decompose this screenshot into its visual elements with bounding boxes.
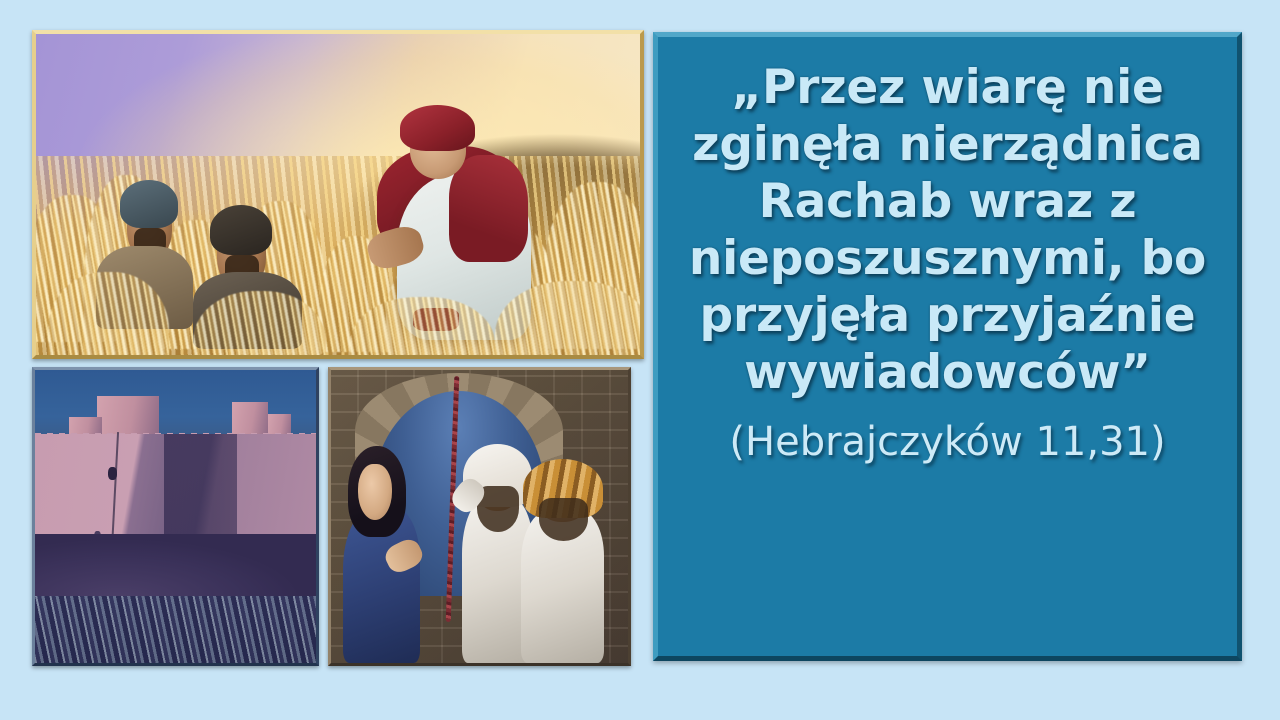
verse-line-1: „Przez wiarę nie bbox=[658, 59, 1237, 116]
rahab-red-shawl-drape bbox=[449, 155, 527, 261]
foreground-brush bbox=[35, 596, 316, 663]
spy-figure-right bbox=[521, 467, 604, 663]
window-scene-artwork bbox=[331, 370, 628, 663]
rahab-at-window bbox=[343, 446, 420, 663]
verse-line-6: wywiadowców” bbox=[658, 344, 1237, 401]
verse-line-3: Rachab wraz z bbox=[658, 173, 1237, 230]
spy-hood bbox=[210, 205, 272, 255]
image-rahab-spies-at-window bbox=[328, 367, 631, 666]
rahab-face bbox=[358, 464, 392, 520]
jericho-wall-artwork bbox=[35, 370, 316, 663]
verse-reference: (Hebrajczyków 11,31) bbox=[658, 419, 1237, 465]
verse-line-2: zginęła nierządnica bbox=[658, 116, 1237, 173]
spy-descending-on-rope bbox=[108, 467, 117, 480]
slide-canvas: „Przez wiarę nie zginęła nierządnica Rac… bbox=[0, 0, 1280, 720]
spy-beard bbox=[539, 498, 587, 541]
verse-line-4: nieposzusznymi, bo bbox=[658, 230, 1237, 287]
spy-head-wrap bbox=[120, 180, 178, 227]
verse-line-5: przyjęła przyjaźnie bbox=[658, 287, 1237, 344]
flax-field-artwork bbox=[36, 34, 640, 355]
image-jericho-wall-night bbox=[32, 367, 319, 666]
image-rahab-hiding-spies-in-flax bbox=[32, 30, 644, 359]
hillside bbox=[35, 534, 316, 598]
scripture-verse-panel: „Przez wiarę nie zginęła nierządnica Rac… bbox=[653, 32, 1242, 661]
rahab-red-headscarf bbox=[400, 105, 475, 151]
